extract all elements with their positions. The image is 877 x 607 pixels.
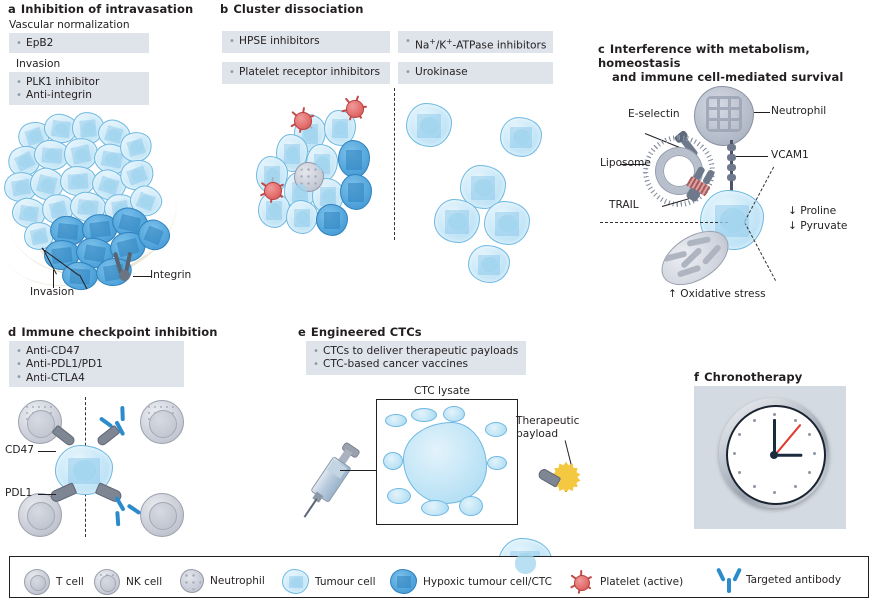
panel-d-box: Anti-CD47 Anti-PDL1/PD1 Anti-CTLA4 [9, 341, 184, 387]
panel-f-clock-panel [694, 386, 846, 529]
legend-item-nk-cell: NK cell [94, 569, 162, 595]
panel-a-subhead-vascular: Vascular normalization [9, 19, 130, 31]
panel-d-label-pdl1: PDL1 [5, 487, 32, 499]
tumour-cell-icon [484, 201, 530, 245]
panel-c-label-proline: ↓ Proline [788, 205, 836, 217]
legend-label: Tumour cell [315, 576, 376, 588]
panel-a-label-integrin: Integrin [150, 269, 191, 281]
panel-b-dissociated-cells [404, 95, 564, 255]
panel-a-title: aInhibition of intravasation [8, 2, 193, 16]
legend-label: Platelet (active) [600, 576, 683, 588]
tumour-cell-icon [406, 103, 452, 147]
legend-item-platelet: Platelet (active) [568, 569, 683, 595]
list-item: PLK1 inhibitor [16, 76, 140, 89]
list-item: Anti-CTLA4 [16, 372, 175, 385]
nk-cell-icon [94, 569, 120, 595]
ctc-lysate-box [376, 399, 518, 525]
figure-canvas: aInhibition of intravasation Vascular no… [0, 0, 877, 607]
legend-label: T cell [56, 576, 84, 588]
pdl1-leader-line [38, 494, 56, 495]
panel-c-letter: c [598, 42, 605, 56]
panel-e-box: CTCs to deliver therapeutic payloads CTC… [306, 341, 526, 375]
targeted-antibody-icon [718, 567, 740, 593]
panel-b-letter: b [220, 2, 228, 16]
panel-b-box-platelet-receptor: Platelet receptor inhibitors [222, 62, 390, 84]
panel-b-box-atpase: Na+/K+-ATPase inhibitors [398, 31, 553, 53]
platelet-icon [568, 569, 594, 595]
list-item: Anti-integrin [16, 89, 140, 102]
panel-a-illustration [0, 110, 210, 295]
panel-c-dash-horizontal [600, 222, 728, 223]
panel-c-label-e-selectin: E-selectin [628, 108, 680, 120]
legend-label: NK cell [126, 576, 162, 588]
clock-hour-hand [774, 454, 802, 457]
list-item: Urokinase [405, 66, 544, 79]
panel-c-neutrophil-icon [694, 86, 754, 146]
tumour-cell-icon [434, 199, 480, 243]
panel-b-title: bCluster dissociation [220, 2, 364, 16]
legend-item-t-cell: T cell [24, 569, 84, 595]
panel-d-letter: d [8, 325, 16, 339]
legend-box: T cell NK cell Neutrophil Tumour cell Hy… [9, 556, 869, 598]
panel-e-letter: e [298, 325, 306, 339]
tumour-cell-icon [282, 569, 309, 594]
list-item: CTCs to deliver therapeutic payloads [313, 345, 517, 358]
hypoxic-tumour-cell-icon [390, 569, 417, 594]
legend-label: Hypoxic tumour cell/CTC [423, 576, 552, 588]
panel-a-box-vascular: EpB2 [9, 33, 149, 53]
panel-c-label-oxidative-stress: ↑ Oxidative stress [668, 288, 766, 300]
panel-e-label-payload: Therapeutic payload [516, 415, 579, 441]
vcam1-leader-line [736, 156, 768, 157]
list-item: Platelet receptor inhibitors [229, 66, 381, 79]
panel-a-letter: a [8, 2, 16, 16]
panel-e-label-ctc-lysate: CTC lysate [414, 385, 470, 397]
syringe-icon [280, 427, 389, 540]
integrin-leader-line [133, 276, 151, 277]
legend-item-neutrophil: Neutrophil [180, 569, 265, 593]
panel-a-invasion-bracket [42, 248, 92, 282]
clock-second-hand [774, 424, 801, 456]
legend-item-tumour-cell: Tumour cell [282, 569, 376, 594]
list-item: HPSE inhibitors [229, 35, 381, 48]
panel-b-box-urokinase: Urokinase [398, 62, 553, 84]
panel-c-label-pyruvate: ↓ Pyruvate [788, 220, 847, 232]
neutrophil-leader-line [754, 112, 770, 113]
panel-c-title: cInterference with metabolism, homeostas… [598, 42, 868, 84]
legend-label: Neutrophil [210, 575, 265, 587]
pdl1-receptor-icon [49, 482, 78, 504]
list-item: EpB2 [16, 37, 140, 50]
panel-d-title: dImmune checkpoint inhibition [8, 325, 218, 339]
panel-d-illustration [0, 395, 200, 540]
panel-a-box-invasion: PLK1 inhibitor Anti-integrin [9, 72, 149, 105]
legend-item-targeted-antibody: Targeted antibody [718, 567, 841, 593]
list-item: Anti-CD47 [16, 345, 175, 358]
panel-a-subhead-invasion: Invasion [16, 58, 60, 70]
clock-hub [770, 451, 778, 459]
neutrophil-icon [180, 569, 204, 593]
list-item: CTC-based cancer vaccines [313, 358, 517, 371]
t-cell-icon [24, 569, 50, 595]
nk-cell-icon [18, 400, 62, 444]
cd47-receptor-icon [51, 425, 76, 448]
platelet-icon [340, 94, 368, 122]
panel-f-letter: f [694, 370, 699, 384]
panel-b-cluster [250, 100, 395, 240]
panel-c-label-liposome: Liposome [600, 157, 651, 169]
clock-minute-hand [773, 419, 776, 455]
panel-a-label-invasion: Invasion [30, 286, 74, 298]
panel-e-title: eEngineered CTCs [298, 325, 422, 339]
clock-face [726, 405, 826, 505]
panel-c-dash-diagonals [744, 160, 792, 290]
legend-label: Targeted antibody [746, 574, 841, 586]
cd47-leader-line [38, 451, 56, 452]
tumour-cell-icon [468, 245, 510, 283]
panel-c-label-trail: TRAIL [609, 199, 639, 211]
panel-c-label-neutrophil: Neutrophil [771, 105, 826, 117]
panel-f-title: fChronotherapy [694, 370, 802, 384]
nk-cell-icon [140, 400, 184, 444]
t-cell-icon [140, 493, 184, 537]
integrin-icon [110, 252, 142, 282]
tumour-cell-icon [500, 117, 542, 157]
panel-d-label-cd47: CD47 [5, 444, 34, 456]
list-item: Anti-PDL1/PD1 [16, 358, 175, 371]
panel-b-box-hpse: HPSE inhibitors [222, 31, 390, 53]
list-item: Na+/K+-ATPase inhibitors [405, 35, 544, 53]
